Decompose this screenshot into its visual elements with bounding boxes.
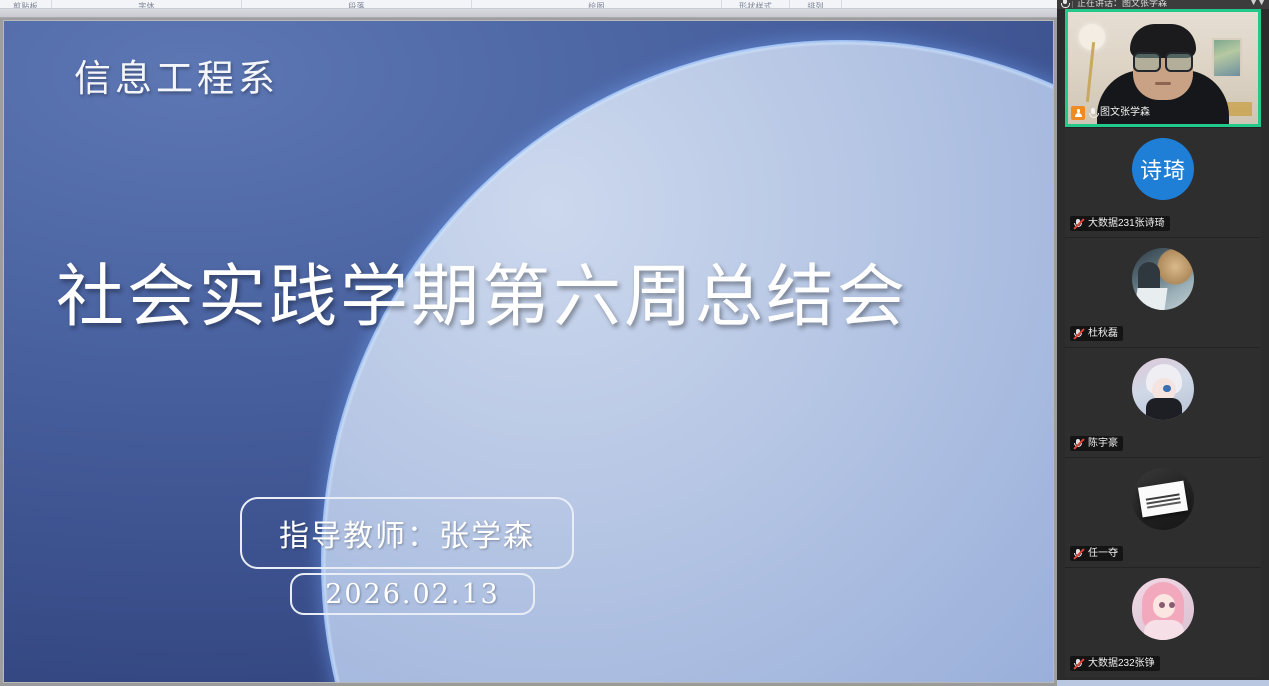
participant-name: 杜秋磊 bbox=[1088, 329, 1118, 339]
host-badge-icon bbox=[1071, 106, 1085, 120]
microphone-muted-icon[interactable] bbox=[1073, 218, 1084, 229]
ribbon-group-label: 绘图 bbox=[588, 3, 605, 8]
participant-tile[interactable]: 杜秋磊 bbox=[1065, 237, 1261, 347]
avatar-wrap bbox=[1065, 358, 1261, 420]
avatar-wrap bbox=[1065, 468, 1261, 530]
avatar bbox=[1132, 358, 1194, 420]
avatar-wrap bbox=[1065, 578, 1261, 640]
ribbon-group-5[interactable]: 形状样式 bbox=[722, 0, 790, 8]
microphone-muted-icon[interactable] bbox=[1073, 548, 1084, 559]
slide-teacher-text: 指导教师：张学森 bbox=[279, 511, 535, 555]
microphone-icon[interactable] bbox=[1088, 108, 1097, 119]
participant-nameplate: 大数据231张诗琦 bbox=[1070, 216, 1170, 231]
participant-rail: 正在讲话：图文张学森 ▼▼ 图文张学森诗琦大数据231张诗琦杜秋磊陈宇豪任一夺大… bbox=[1057, 0, 1269, 686]
avatar-part bbox=[1146, 493, 1180, 500]
avatar-part bbox=[1159, 602, 1165, 608]
active-speaker-label: 正在讲话：图文张学森 bbox=[1077, 0, 1167, 8]
meeting-screen-share-window: 剪贴板字体段落绘图形状样式排列 信息工程系 社会实践学期第六周总结会 指导教师：… bbox=[0, 0, 1269, 686]
ribbon-group-label: 字体 bbox=[138, 3, 155, 8]
slide-department-label: 信息工程系 bbox=[74, 59, 279, 100]
participant-tile[interactable]: 大数据232张铮 bbox=[1065, 567, 1261, 677]
avatar bbox=[1132, 468, 1194, 530]
ribbon-group-2[interactable]: 字体 bbox=[52, 0, 242, 8]
ribbon-group-label: 排列 bbox=[807, 3, 824, 8]
participant-tile[interactable]: 陈宇豪 bbox=[1065, 347, 1261, 457]
ribbon-group-label: 段落 bbox=[348, 3, 365, 8]
participant-name: 任一夺 bbox=[1088, 549, 1118, 559]
rail-bottom-edge bbox=[1057, 680, 1269, 686]
participant-nameplate: 陈宇豪 bbox=[1070, 436, 1123, 451]
ribbon-group-6[interactable]: 排列 bbox=[790, 0, 842, 8]
avatar bbox=[1132, 578, 1194, 640]
microphone-muted-icon[interactable] bbox=[1073, 658, 1084, 669]
active-speaker-banner: 正在讲话：图文张学森 ▼▼ bbox=[1057, 0, 1269, 9]
ribbon-group-label: 剪贴板 bbox=[13, 3, 38, 8]
avatar-part bbox=[1146, 398, 1182, 420]
participant-nameplate: 任一夺 bbox=[1070, 546, 1123, 561]
ribbon-group-4[interactable]: 绘图 bbox=[472, 0, 722, 8]
video-part bbox=[1212, 38, 1242, 78]
video-part bbox=[1155, 82, 1171, 85]
avatar-wrap bbox=[1065, 248, 1261, 310]
participant-nameplate: 大数据232张铮 bbox=[1070, 656, 1160, 671]
participant-name: 大数据232张铮 bbox=[1088, 659, 1155, 669]
participant-nameplate: 图文张学森 bbox=[1071, 105, 1155, 121]
avatar-part bbox=[1144, 620, 1184, 640]
ribbon-divider bbox=[0, 9, 1057, 18]
microphone-icon bbox=[1061, 0, 1068, 8]
participant-tile[interactable]: 图文张学森 bbox=[1065, 9, 1261, 127]
slide-date-text: 2026.02.13 bbox=[325, 579, 500, 610]
chevron-down-icon[interactable]: ▼▼ bbox=[1249, 0, 1265, 7]
participant-tiles-list[interactable]: 图文张学森诗琦大数据231张诗琦杜秋磊陈宇豪任一夺大数据232张铮 bbox=[1057, 9, 1269, 686]
participant-tile[interactable]: 任一夺 bbox=[1065, 457, 1261, 567]
ribbon-group-1[interactable]: 剪贴板 bbox=[0, 0, 52, 8]
microphone-muted-icon[interactable] bbox=[1073, 438, 1084, 449]
ribbon-group-label: 形状样式 bbox=[739, 3, 772, 8]
ribbon-group-7[interactable] bbox=[842, 0, 1047, 8]
slide-main-title: 社会实践学期第六周总结会 bbox=[56, 261, 908, 336]
participant-name: 图文张学森 bbox=[1100, 108, 1150, 118]
slide-teacher-pill: 指导教师：张学森 bbox=[240, 497, 574, 569]
slide-stage: 信息工程系 社会实践学期第六周总结会 指导教师：张学森 2026.02.13 bbox=[0, 18, 1057, 686]
ribbon-group-3[interactable]: 段落 bbox=[242, 0, 472, 8]
slide-date-pill: 2026.02.13 bbox=[290, 573, 535, 615]
avatar-part bbox=[1163, 385, 1171, 392]
microphone-muted-icon[interactable] bbox=[1073, 328, 1084, 339]
avatar-part bbox=[1138, 481, 1188, 518]
avatar-wrap: 诗琦 bbox=[1065, 138, 1261, 200]
avatar: 诗琦 bbox=[1132, 138, 1194, 200]
person-glyph bbox=[1074, 109, 1082, 118]
video-part bbox=[1086, 42, 1095, 102]
avatar bbox=[1132, 248, 1194, 310]
participant-name: 大数据231张诗琦 bbox=[1088, 219, 1165, 229]
participant-nameplate: 杜秋磊 bbox=[1070, 326, 1123, 341]
presentation-slide[interactable]: 信息工程系 社会实践学期第六周总结会 指导教师：张学森 2026.02.13 bbox=[3, 20, 1054, 683]
participant-name: 陈宇豪 bbox=[1088, 439, 1118, 449]
video-part bbox=[1133, 52, 1193, 68]
ribbon-toolbar: 剪贴板字体段落绘图形状样式排列 bbox=[0, 0, 1057, 9]
participant-tile[interactable]: 诗琦大数据231张诗琦 bbox=[1065, 127, 1261, 237]
banner-divider bbox=[1072, 1, 1073, 8]
